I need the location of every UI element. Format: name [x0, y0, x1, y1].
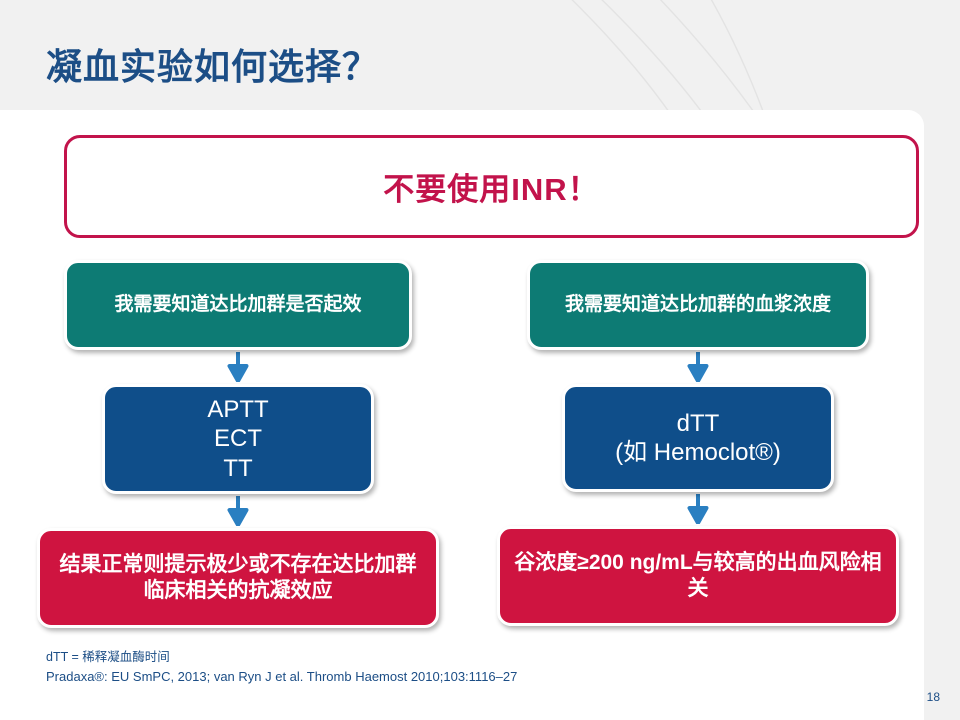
flow-arrow-right-1 — [488, 350, 908, 384]
flow-node-right-test-label: dTT (如 Hemoclot®) — [603, 409, 793, 468]
slide-header: 凝血实验如何选择？ — [0, 0, 960, 112]
flow-arrow-left-2 — [28, 494, 448, 528]
inr-callout-text: 不要使用INR！ — [383, 164, 599, 209]
flow-arrow-left-1 — [28, 350, 448, 384]
flow-node-right-question-label: 我需要知道达比加群的血浆浓度 — [553, 293, 843, 316]
footnote-line-2: Pradaxa®: EU SmPC, 2013; van Ryn J et al… — [46, 667, 517, 687]
arrow-down-icon — [687, 352, 709, 382]
footnotes: dTT = 稀释凝血酶时间 Pradaxa®: EU SmPC, 2013; v… — [46, 648, 517, 688]
flow-node-left-test[interactable]: APTT ECT TT — [102, 384, 374, 494]
flow-node-right-test-line-1: dTT — [677, 410, 720, 437]
slide-root: 凝血实验如何选择？ 不要使用INR！ 我需要知道达比加群是否起效 APTT EC… — [0, 0, 960, 720]
flow-arrow-right-2 — [488, 492, 908, 526]
flow-node-right-question[interactable]: 我需要知道达比加群的血浆浓度 — [527, 260, 869, 350]
flow-node-left-test-label: APTT ECT TT — [195, 395, 280, 483]
flow-node-right-test[interactable]: dTT (如 Hemoclot®) — [562, 384, 834, 492]
flow-node-left-question[interactable]: 我需要知道达比加群是否起效 — [64, 260, 412, 350]
flow-column-left: 我需要知道达比加群是否起效 APTT ECT TT — [28, 260, 448, 628]
flow-column-right: 我需要知道达比加群的血浆浓度 dTT (如 Hemoclot®) 谷浓度 — [488, 260, 908, 626]
flow-node-left-result-label: 结果正常则提示极少或不存在达比加群临床相关的抗凝效应 — [40, 552, 436, 603]
inr-callout-box: 不要使用INR！ — [64, 135, 919, 238]
page-number: 18 — [927, 690, 940, 704]
content-panel: 不要使用INR！ 我需要知道达比加群是否起效 APTT ECT TT — [0, 110, 924, 720]
flow-node-right-result-label: 谷浓度≥200 ng/mL与较高的出血风险相关 — [500, 550, 896, 601]
arrow-down-icon — [227, 496, 249, 526]
arrow-down-icon — [227, 352, 249, 382]
flow-node-left-result[interactable]: 结果正常则提示极少或不存在达比加群临床相关的抗凝效应 — [37, 528, 439, 628]
flow-node-left-test-line-3: TT — [223, 455, 252, 482]
flow-node-left-test-line-2: ECT — [214, 425, 262, 452]
page-title: 凝血实验如何选择？ — [46, 38, 379, 90]
flow-node-left-test-line-1: APTT — [207, 396, 268, 423]
flow-node-left-question-label: 我需要知道达比加群是否起效 — [102, 293, 373, 316]
footnote-line-1: dTT = 稀释凝血酶时间 — [46, 648, 517, 667]
flow-node-right-test-line-2: (如 Hemoclot®) — [615, 439, 781, 466]
arrow-down-icon — [687, 494, 709, 524]
flow-node-right-result[interactable]: 谷浓度≥200 ng/mL与较高的出血风险相关 — [497, 526, 899, 626]
